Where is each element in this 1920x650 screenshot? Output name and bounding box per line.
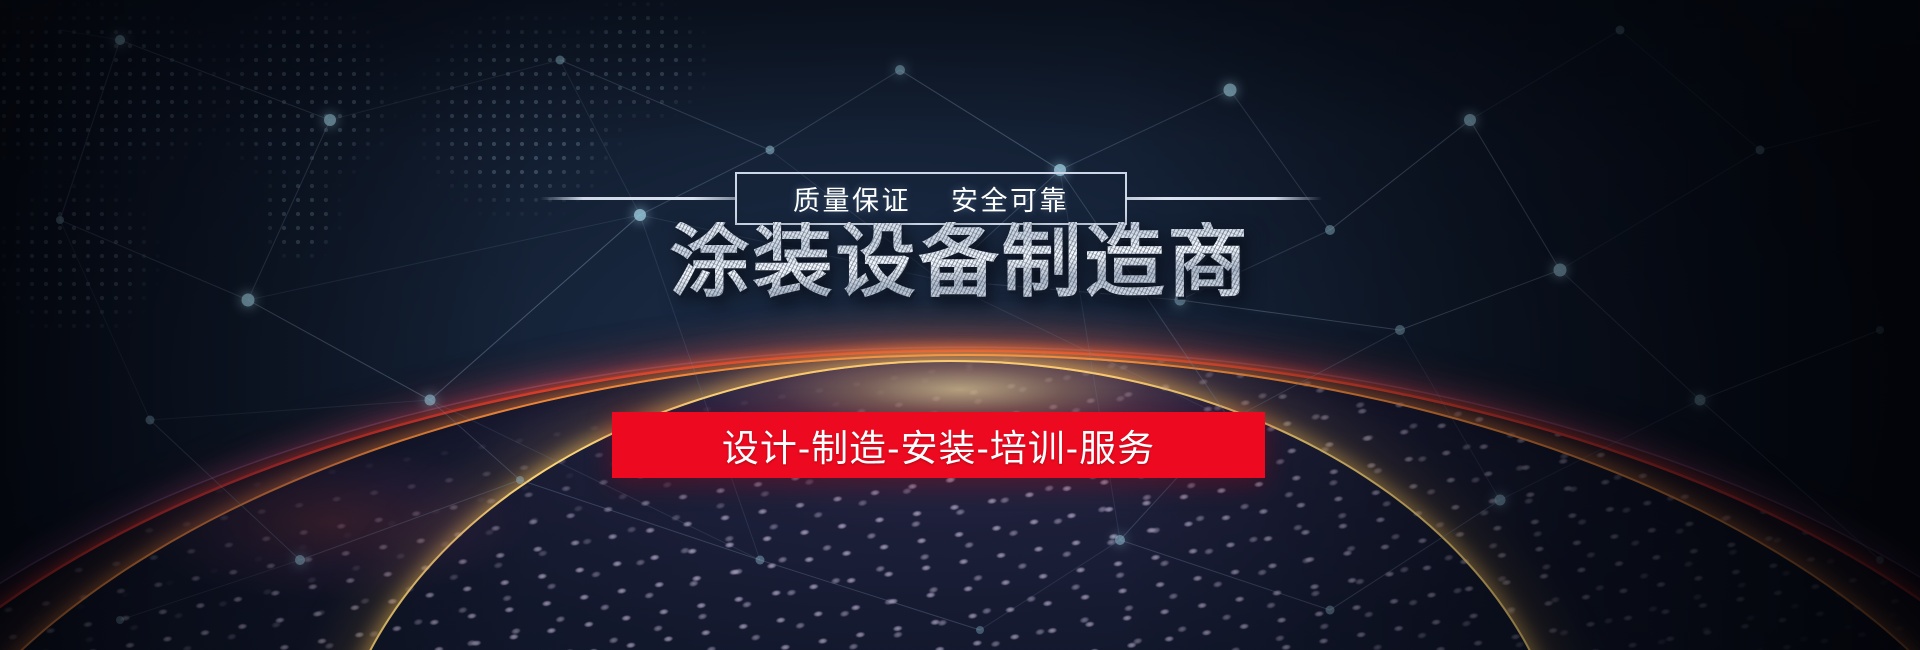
subtitle-rule-right [1126, 197, 1322, 200]
services-ribbon-text: 设计-制造-安装-培训-服务 [722, 418, 1155, 472]
subtitle-text: 质量保证 安全可靠 [793, 179, 1069, 218]
page-title: 涂装设备制造商 [0, 222, 1920, 302]
subtitle-rule-left [540, 197, 736, 200]
services-ribbon: 设计-制造-安装-培训-服务 [612, 412, 1265, 478]
hero-banner: 质量保证 安全可靠 涂装设备制造商 设计-制造-安装-培训-服务 [0, 0, 1920, 650]
banner-content: 质量保证 安全可靠 涂装设备制造商 设计-制造-安装-培训-服务 [0, 0, 1920, 650]
